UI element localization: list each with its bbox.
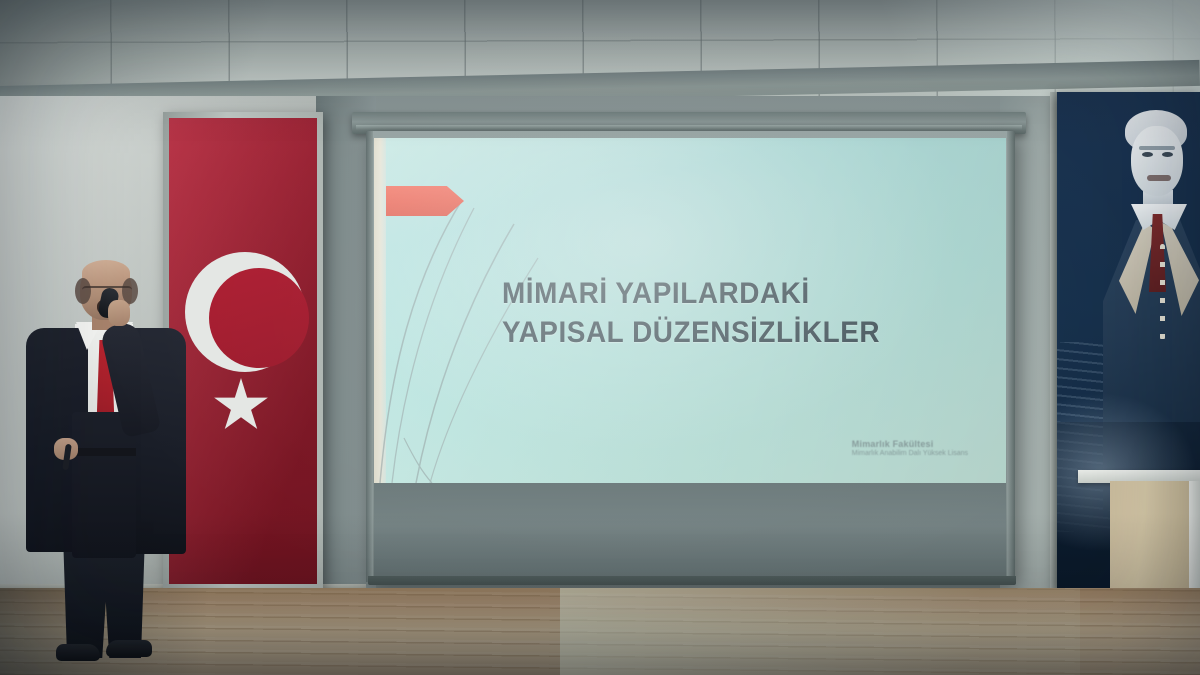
projected-slide: MİMARİ YAPILARDAKİ YAPISAL DÜZENSİZLİKLE…: [374, 138, 1006, 483]
screen-unlit-area: [374, 483, 1006, 579]
turkish-flag: [169, 118, 317, 584]
slide-vignette: [374, 138, 1006, 483]
poster-buttons: [1160, 244, 1165, 340]
presenter-shoe-left: [56, 644, 100, 661]
screen-bottom-weight-bar: [368, 576, 1016, 585]
crescent-cutout: [209, 268, 309, 368]
star-icon: [213, 378, 269, 434]
presenter-shoe-right: [106, 640, 152, 657]
presenter-belt: [74, 448, 136, 456]
poster-face: [1131, 126, 1183, 196]
housing-lip: [356, 125, 1022, 130]
screen-left-rail: [366, 131, 373, 582]
presenter: [12, 262, 190, 662]
floor-light-patch: [560, 588, 1080, 675]
poster-eye-right: [1162, 152, 1173, 157]
screen-right-rail: [1007, 131, 1015, 582]
presenter-hand-holding-mic: [108, 300, 130, 326]
poster-moustache: [1147, 175, 1171, 181]
poster-brow: [1139, 146, 1175, 150]
presentation-room-photo: MİMARİ YAPILARDAKİ YAPISAL DÜZENSİZLİKLE…: [0, 0, 1200, 675]
poster-eye-left: [1142, 152, 1153, 157]
